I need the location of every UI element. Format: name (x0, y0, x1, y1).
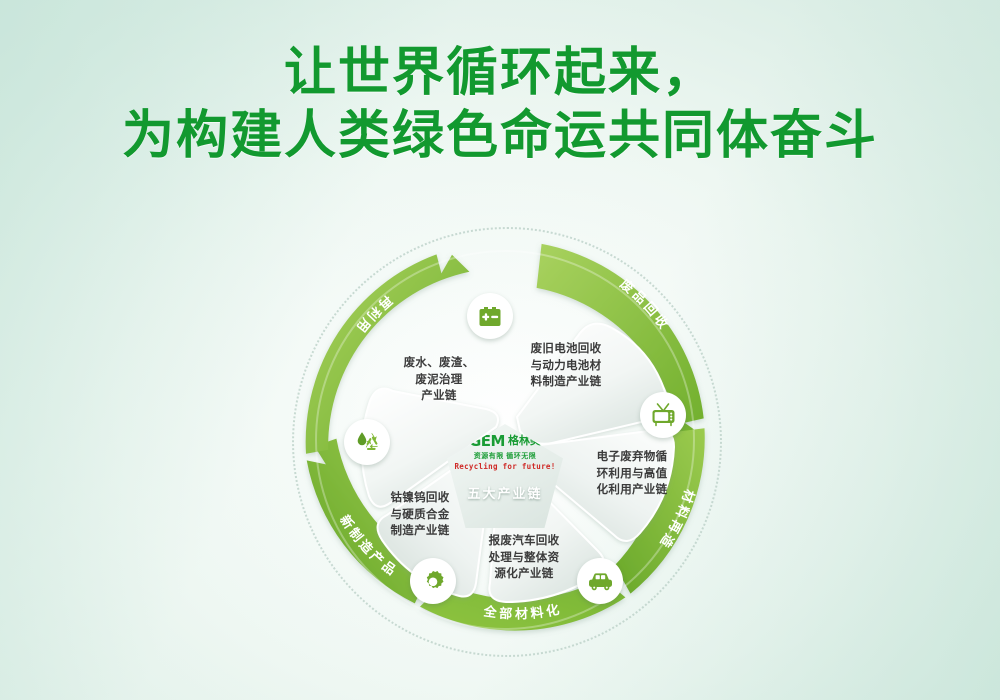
title-line-1: 让世界循环起来， (0, 42, 1000, 105)
petal-label-battery-line-3: 料制造产业链 (508, 374, 624, 391)
petal-label-cobalt-line-2: 与硬质合金 (368, 507, 472, 524)
center-subtitle: 五大产业链 (467, 483, 542, 502)
logo-tagline-english: Recycling for future! (454, 462, 555, 471)
battery-icon (477, 304, 503, 328)
petal-label-water-line-2: 废泥治理 (380, 372, 498, 389)
television-icon (650, 402, 677, 428)
petal-label-car-line-1: 报废汽车回收 (470, 533, 578, 550)
title-line-2: 为构建人类绿色命运共同体奋斗 (0, 105, 1000, 168)
icon-bubble-gear (410, 558, 456, 604)
petal-label-car: 报废汽车回收 处理与整体资 源化产业链 (470, 533, 578, 583)
petal-label-ewaste-line-1: 电子废弃物循 (580, 449, 684, 466)
icon-bubble-car (577, 558, 623, 604)
petal-label-water-line-3: 产业链 (380, 388, 498, 405)
petal-label-water: 废水、废渣、 废泥治理 产业链 (380, 355, 498, 405)
icon-bubble-recycle-drop (344, 419, 390, 465)
icon-bubble-battery (467, 293, 513, 339)
petal-label-battery-line-2: 与动力电池材 (508, 358, 624, 375)
petal-label-battery-line-1: 废旧电池回收 (508, 341, 624, 358)
petal-label-ewaste: 电子废弃物循 环利用与高值 化利用产业链 (580, 449, 684, 499)
icon-bubble-television (640, 392, 686, 438)
petal-label-water-line-1: 废水、废渣、 (380, 355, 498, 372)
petal-label-cobalt: 钴镍钨回收 与硬质合金 制造产业链 (368, 490, 472, 540)
petal-label-ewaste-line-3: 化利用产业链 (580, 482, 684, 499)
petal-label-ewaste-line-2: 环利用与高值 (580, 466, 684, 483)
petal-label-car-line-3: 源化产业链 (470, 566, 578, 583)
page-title: 让世界循环起来， 为构建人类绿色命运共同体奋斗 (0, 42, 1000, 169)
petal-label-cobalt-line-3: 制造产业链 (368, 523, 472, 540)
gear-icon (420, 568, 446, 594)
logo-tagline-chinese: 资源有限 循环无限 (474, 451, 536, 461)
car-icon (587, 570, 614, 592)
petal-label-car-line-2: 处理与整体资 (470, 550, 578, 567)
recycle-drop-icon (354, 430, 381, 455)
petal-label-battery: 废旧电池回收 与动力电池材 料制造产业链 (508, 341, 624, 391)
